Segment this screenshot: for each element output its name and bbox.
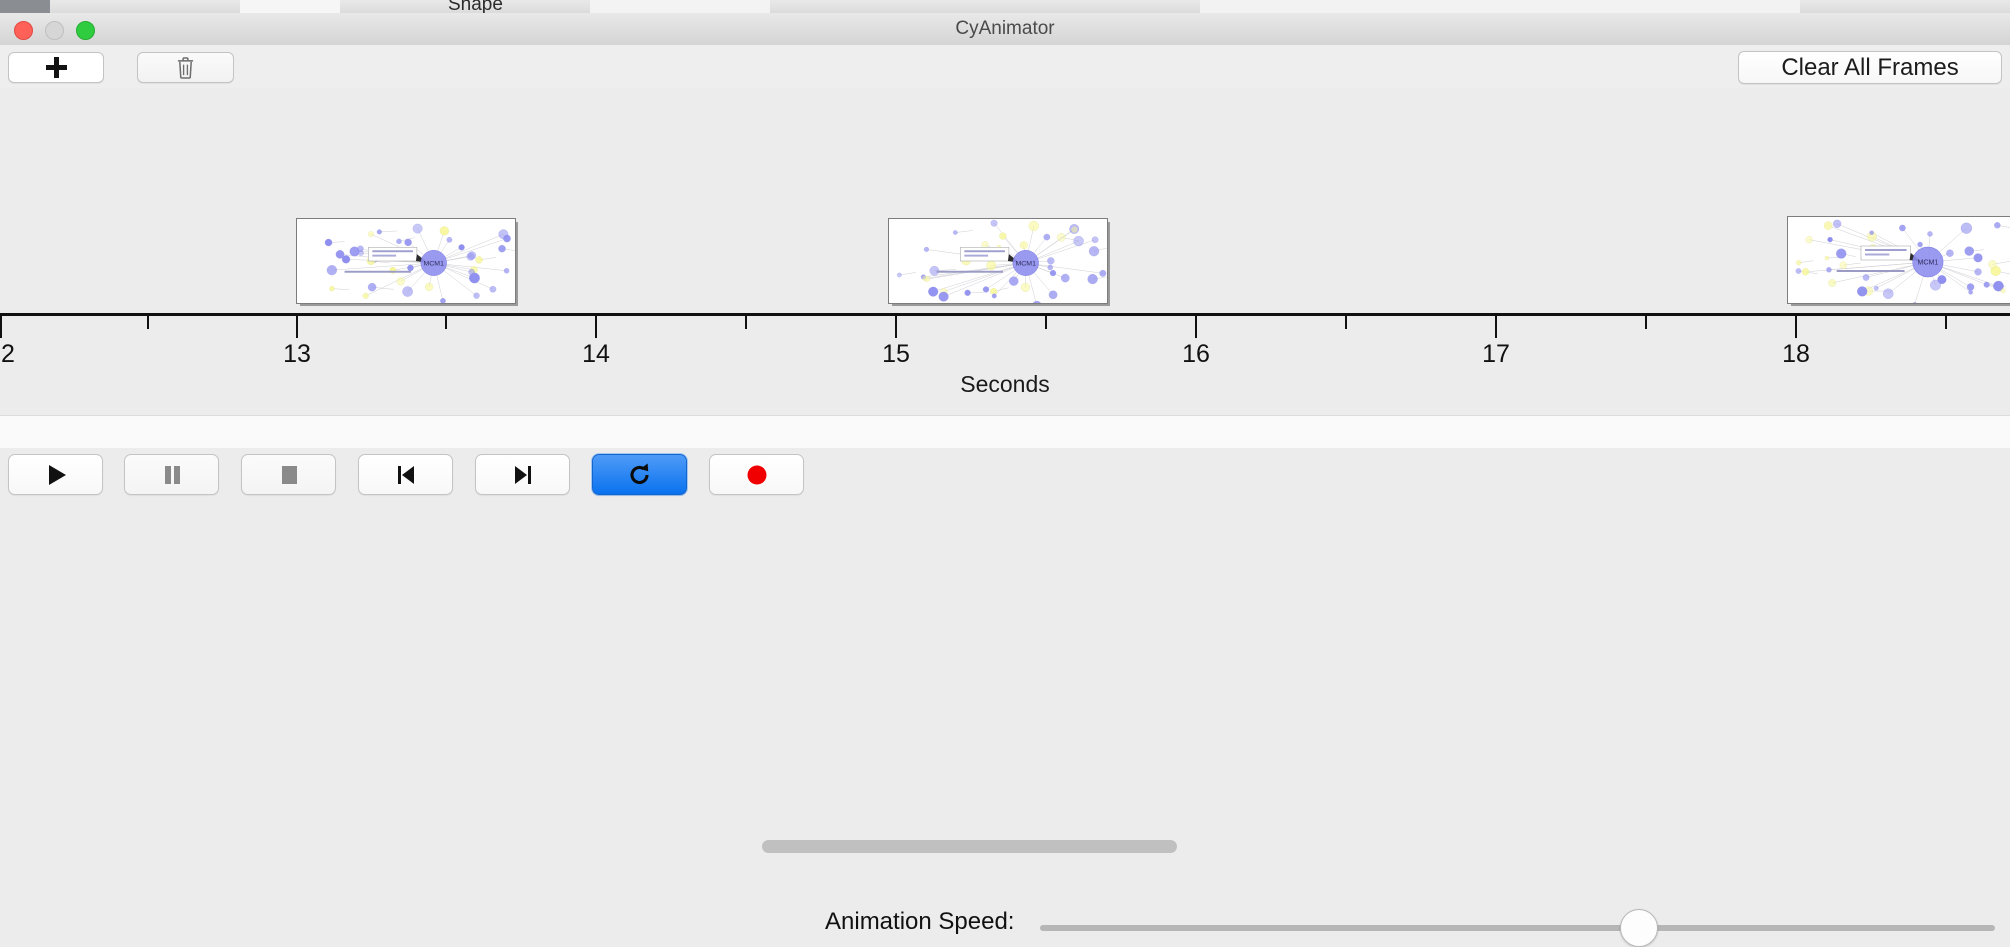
animation-speed-label: Animation Speed: xyxy=(825,908,1014,936)
cyanimator-window: Shape CyAnimator Clear All Frames MCM1 xyxy=(0,0,2010,510)
ruler-tick-minor xyxy=(745,316,747,329)
ruler-tick-major xyxy=(1195,316,1197,338)
network-graph: MCM1 xyxy=(1788,217,2010,303)
window-title: CyAnimator xyxy=(0,13,2010,45)
record-icon xyxy=(744,462,770,488)
loop-button[interactable] xyxy=(592,454,687,495)
toolbar: Clear All Frames xyxy=(0,45,2010,89)
skip-next-button[interactable] xyxy=(475,454,570,495)
skip-previous-icon xyxy=(393,462,419,488)
timeline-frame-thumbnail[interactable]: MCM1 xyxy=(888,218,1106,302)
frame-content: MCM1 xyxy=(888,218,1108,304)
record-button[interactable] xyxy=(709,454,804,495)
stop-button[interactable] xyxy=(241,454,336,495)
frame-content: MCM1 xyxy=(296,218,516,304)
skip-next-icon xyxy=(510,462,536,488)
ruler-tick-label: 14 xyxy=(582,340,610,369)
ruler-tick-label: 12 xyxy=(0,340,15,369)
pause-icon xyxy=(159,462,185,488)
background-segment xyxy=(1200,0,1801,13)
background-window-strip: Shape xyxy=(0,0,2010,13)
playback-control-bar: Animation Speed: xyxy=(0,448,2010,510)
background-fragment-text: Shape xyxy=(448,0,503,13)
ruler-tick-minor xyxy=(1045,316,1047,329)
background-segment xyxy=(50,0,186,13)
ruler-tick-minor xyxy=(445,316,447,329)
background-segment xyxy=(590,0,771,13)
ruler-tick-minor xyxy=(147,316,149,329)
play-button[interactable] xyxy=(8,454,103,495)
clear-all-frames-label: Clear All Frames xyxy=(1781,54,1958,82)
ruler-tick-label: 17 xyxy=(1482,340,1510,369)
ruler-tick-major xyxy=(595,316,597,338)
hub-node-label: MCM1 xyxy=(424,261,445,268)
plus-icon xyxy=(46,57,67,78)
ruler-tick-major xyxy=(895,316,897,338)
delete-frame-button[interactable] xyxy=(137,52,234,83)
ruler-tick-minor xyxy=(1945,316,1947,329)
ruler-tick-minor xyxy=(1345,316,1347,329)
ruler-tick-label: 16 xyxy=(1182,340,1210,369)
ruler-tick-major xyxy=(1795,316,1797,338)
background-segment xyxy=(770,0,1201,13)
timeline-scrollbar-track[interactable] xyxy=(0,415,2010,450)
background-segment xyxy=(1800,0,2010,13)
background-dark-tab xyxy=(0,0,50,13)
ruler-tick-major xyxy=(1495,316,1497,338)
timeline-scrollbar-thumb[interactable] xyxy=(762,840,1177,853)
hub-node-label: MCM1 xyxy=(1917,260,1938,267)
background-segment xyxy=(240,0,341,13)
hub-node-label: MCM1 xyxy=(1016,261,1037,268)
stop-icon xyxy=(276,462,302,488)
timeline-frame-thumbnail[interactable]: MCM1 xyxy=(296,218,514,302)
ruler-tick-label: 15 xyxy=(882,340,910,369)
add-frame-button[interactable] xyxy=(8,52,104,83)
trash-icon xyxy=(176,56,195,79)
ruler-tick-label: 18 xyxy=(1782,340,1810,369)
pause-button[interactable] xyxy=(124,454,219,495)
loop-icon xyxy=(626,461,654,489)
animation-speed-slider-track[interactable] xyxy=(1040,925,1995,931)
axis-title: Seconds xyxy=(0,371,2010,398)
ruler-tick-major xyxy=(296,316,298,338)
play-icon xyxy=(43,462,69,488)
ruler-tick-minor xyxy=(1645,316,1647,329)
ruler-tick-major xyxy=(0,316,2,338)
title-bar: CyAnimator xyxy=(0,13,2010,46)
timeline-frame-thumbnail[interactable]: MCM1 xyxy=(1787,216,2010,302)
animation-speed-slider-thumb[interactable] xyxy=(1620,909,1658,947)
ruler-tick-label: 13 xyxy=(283,340,311,369)
skip-previous-button[interactable] xyxy=(358,454,453,495)
network-graph: MCM1 xyxy=(889,219,1107,303)
network-graph: MCM1 xyxy=(297,219,515,303)
frame-content: MCM1 xyxy=(1787,216,2010,304)
ruler-baseline xyxy=(0,313,2010,316)
clear-all-frames-button[interactable]: Clear All Frames xyxy=(1738,51,2002,84)
background-segment xyxy=(185,0,241,13)
timeline-panel[interactable]: MCM1MCM1MCM1 12131415161718 Seconds xyxy=(0,88,2010,415)
